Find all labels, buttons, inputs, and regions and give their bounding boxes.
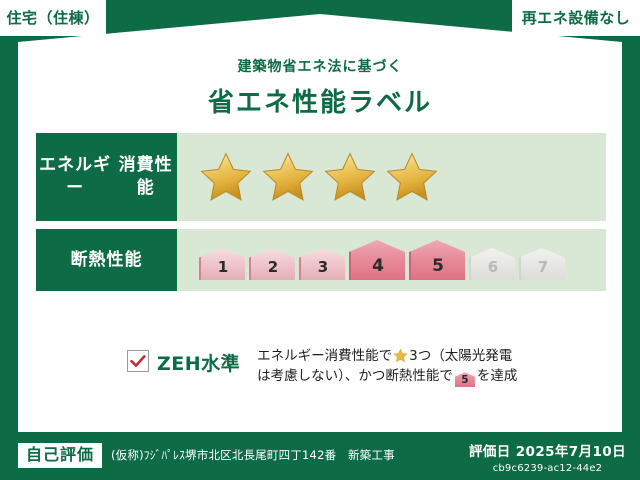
- zeh-description: エネルギー消費性能で3つ（太陽光発電は考慮しない）、かつ断熱性能で5を達成: [257, 346, 517, 387]
- zeh-desc-count: 3つ（太陽光発電: [409, 348, 512, 364]
- insulation-grade-7: 7: [519, 248, 565, 280]
- insulation-grade-1: 1: [199, 248, 245, 280]
- renewable-equipment-tag: 再エネ設備なし: [512, 0, 640, 36]
- row-energy-label-line1: エネルギー: [36, 154, 114, 200]
- check-icon: [130, 355, 146, 368]
- star-icon: [261, 150, 315, 204]
- row-insulation: 断熱性能 1234567: [36, 229, 606, 291]
- insulation-grade-5: 5: [409, 240, 465, 280]
- zeh-desc-part3: を達成: [477, 368, 518, 384]
- insulation-grade-2: 2: [249, 248, 295, 280]
- row-energy-consumption-body: [177, 133, 606, 221]
- row-energy-consumption-label: エネルギー 消費性能: [36, 133, 177, 221]
- label-footer: 自己評価 (仮称)ﾌｼﾞﾊﾟﾚｽ堺市北区北長尾町四丁142番 新築工事 評価日 …: [0, 432, 640, 480]
- row-insulation-body: 1234567: [177, 229, 606, 291]
- performance-rows: エネルギー 消費性能 断熱性能 1234567: [36, 133, 606, 291]
- self-evaluation-badge: 自己評価: [18, 443, 102, 468]
- star-rating: [199, 150, 439, 204]
- star-icon: [199, 150, 253, 204]
- star-icon: [323, 150, 377, 204]
- page-title: 省エネ性能ラベル: [0, 82, 640, 119]
- label-subtitle: 建築物省エネ法に基づく: [0, 56, 640, 76]
- insulation-grade-scale: 1234567: [199, 240, 565, 280]
- building-type-tag: 住宅（住棟）: [0, 0, 106, 36]
- label-title-block: 建築物省エネ法に基づく 省エネ性能ラベル: [0, 56, 640, 119]
- zeh-desc-part1: エネルギー消費性能で: [257, 348, 392, 364]
- evaluation-date: 評価日 2025年7月10日: [469, 440, 626, 460]
- zeh-desc-part2: は考慮しない）、かつ断熱性能で: [257, 368, 453, 384]
- row-energy-consumption: エネルギー 消費性能: [36, 133, 606, 221]
- zeh-checkbox: [127, 350, 149, 372]
- zeh-desc-grade-badge: 5: [455, 372, 475, 387]
- footer-left-group: 自己評価 (仮称)ﾌｼﾞﾊﾟﾚｽ堺市北区北長尾町四丁142番 新築工事: [18, 443, 395, 468]
- row-insulation-label: 断熱性能: [36, 229, 177, 291]
- project-name: (仮称)ﾌｼﾞﾊﾟﾚｽ堺市北区北長尾町四丁142番 新築工事: [111, 447, 395, 463]
- zeh-title: ZEH水準: [157, 349, 240, 376]
- zeh-section: ZEH水準 エネルギー消費性能で3つ（太陽光発電は考慮しない）、かつ断熱性能で5…: [127, 346, 517, 387]
- star-icon: [393, 348, 408, 363]
- row-energy-label-line2: 消費性能: [114, 154, 177, 200]
- row-insulation-label-text: 断熱性能: [71, 249, 143, 272]
- evaluation-id: cb9c6239-ac12-44e2: [469, 463, 626, 474]
- insulation-grade-4: 4: [349, 240, 405, 280]
- insulation-grade-3: 3: [299, 248, 345, 280]
- star-icon: [385, 150, 439, 204]
- energy-performance-label: 住宅（住棟） 再エネ設備なし 建築物省エネ法に基づく 省エネ性能ラベル エネルギ…: [0, 0, 640, 480]
- footer-right-group: 評価日 2025年7月10日 cb9c6239-ac12-44e2: [469, 440, 626, 474]
- insulation-grade-6: 6: [469, 248, 515, 280]
